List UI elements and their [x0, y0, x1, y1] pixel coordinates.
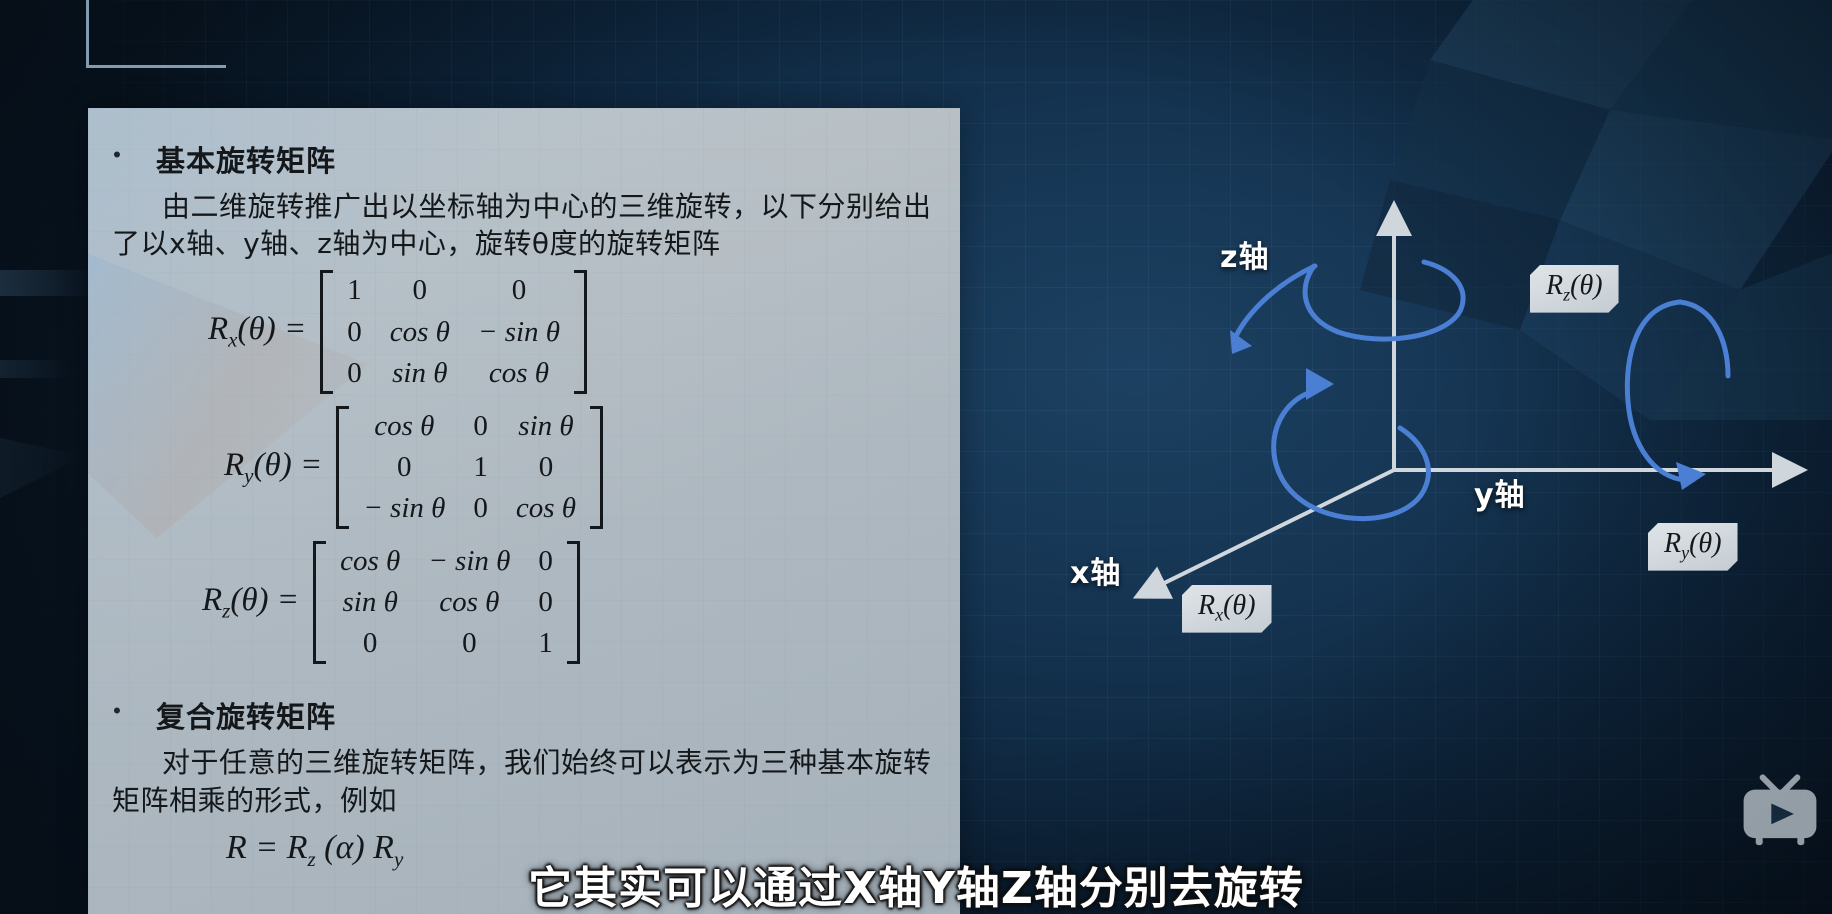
- section-line-2: 矩阵相乘的形式，例如: [112, 782, 932, 819]
- bracket-right: [567, 541, 580, 664]
- bullet-icon: •: [106, 130, 128, 166]
- section-heading: 基本旋转矩阵: [128, 138, 932, 180]
- rx-tag: Rx(θ): [1182, 585, 1272, 633]
- matrix-rz: Rz(θ) = cos θ− sin θ0 sin θcos θ0 001: [202, 541, 944, 664]
- cell: cos θ: [376, 312, 464, 353]
- matrix-rz-cells: cos θ− sin θ0 sin θcos θ0 001: [326, 541, 567, 664]
- cell: cos θ: [414, 582, 524, 623]
- cell: sin θ: [326, 582, 414, 623]
- cell: − sin θ: [414, 541, 524, 582]
- cell: 0: [333, 312, 376, 353]
- ry-tag: Ry(θ): [1648, 523, 1738, 571]
- title-dash: —: [484, 0, 539, 2]
- cell: cos θ: [326, 541, 414, 582]
- bullet-icon: •: [106, 686, 128, 722]
- matrix-rz-label: Rz(θ) =: [202, 582, 299, 624]
- cell: 1: [459, 447, 502, 488]
- matrix-rx-cells: 100 0cos θ− sin θ 0sin θcos θ: [333, 270, 574, 393]
- cell: sin θ: [502, 406, 590, 447]
- matrix-rx-label: Rx(θ) =: [208, 311, 306, 353]
- matrix-ry-label: Ry(θ) =: [224, 447, 322, 489]
- bracket-left: [320, 270, 333, 393]
- cell: 0: [459, 488, 502, 529]
- axis-diagram-svg: [1110, 170, 1832, 730]
- cell: 0: [459, 406, 502, 447]
- cell: 0: [524, 541, 567, 582]
- z-rotation-arrow: [1305, 262, 1463, 339]
- y-axis-label: y轴: [1474, 470, 1526, 514]
- section-composite-rotation: • 复合旋转矩阵 对于任意的三维旋转矩阵，我们始终可以表示为三种基本旋转 矩阵相…: [106, 686, 944, 818]
- cell: − sin θ: [464, 312, 574, 353]
- cell: sin θ: [376, 353, 464, 394]
- matrix-rx: Rx(θ) = 100 0cos θ− sin θ 0sin θcos θ: [208, 270, 944, 393]
- bilibili-tv-icon: [1736, 774, 1824, 852]
- cell: 1: [524, 623, 567, 664]
- cell: cos θ: [464, 353, 574, 394]
- x-axis-line: [1140, 470, 1394, 595]
- composite-formula: R = Rz (α) Ry: [226, 829, 944, 872]
- y-rotation-arrowhead: [1676, 462, 1706, 490]
- section-line-1: 对于任意的三维旋转矩阵，我们始终可以表示为三种基本旋转: [128, 744, 932, 781]
- cell: 0: [414, 623, 524, 664]
- section-line-2: 了以x轴、y轴、z轴为中心，旋转θ度的旋转矩阵: [112, 225, 932, 262]
- axis-rotation-diagram: z轴 y轴 x轴 Rz(θ) Ry(θ) Rx(θ): [1110, 170, 1832, 730]
- x-rotation-arrow: [1274, 394, 1429, 519]
- cell: 0: [464, 270, 574, 311]
- cell: 1: [333, 270, 376, 311]
- cell: cos θ: [349, 406, 459, 447]
- bracket-right: [574, 270, 587, 393]
- cell: cos θ: [502, 488, 590, 529]
- cell: 0: [326, 623, 414, 664]
- x-axis-label: x轴: [1070, 548, 1121, 592]
- page-title: 三维几何变换—三维旋转: [148, 0, 765, 3]
- slide-content-panel: • 基本旋转矩阵 由二维旋转推广出以坐标轴为中心的三维旋转，以下分别给出 了以x…: [88, 108, 960, 914]
- matrix-ry: Ry(θ) = cos θ0sin θ 010 − sin θ0cos θ: [224, 406, 944, 529]
- cell: − sin θ: [349, 488, 459, 529]
- title-highlight: 三维旋转: [545, 0, 765, 2]
- x-rotation-arrowhead: [1306, 368, 1334, 400]
- section-basic-rotation: • 基本旋转矩阵 由二维旋转推广出以坐标轴为中心的三维旋转，以下分别给出 了以x…: [106, 130, 944, 262]
- section-heading: 复合旋转矩阵: [128, 694, 932, 736]
- title-frame-decoration: [86, 0, 226, 68]
- cell: 0: [333, 353, 376, 394]
- section-line-1: 由二维旋转推广出以坐标轴为中心的三维旋转，以下分别给出: [128, 188, 932, 225]
- y-rotation-arrow: [1627, 302, 1686, 480]
- cell: 0: [349, 447, 459, 488]
- rz-tag: Rz(θ): [1530, 265, 1619, 313]
- matrix-ry-cells: cos θ0sin θ 010 − sin θ0cos θ: [349, 406, 590, 529]
- z-axis-label: z轴: [1220, 232, 1269, 276]
- cell: 0: [524, 582, 567, 623]
- title-main: 三维几何变换: [148, 0, 478, 2]
- bracket-left: [336, 406, 349, 529]
- bracket-left: [313, 541, 326, 664]
- cell: 0: [376, 270, 464, 311]
- bracket-right: [590, 406, 603, 529]
- cell: 0: [502, 447, 590, 488]
